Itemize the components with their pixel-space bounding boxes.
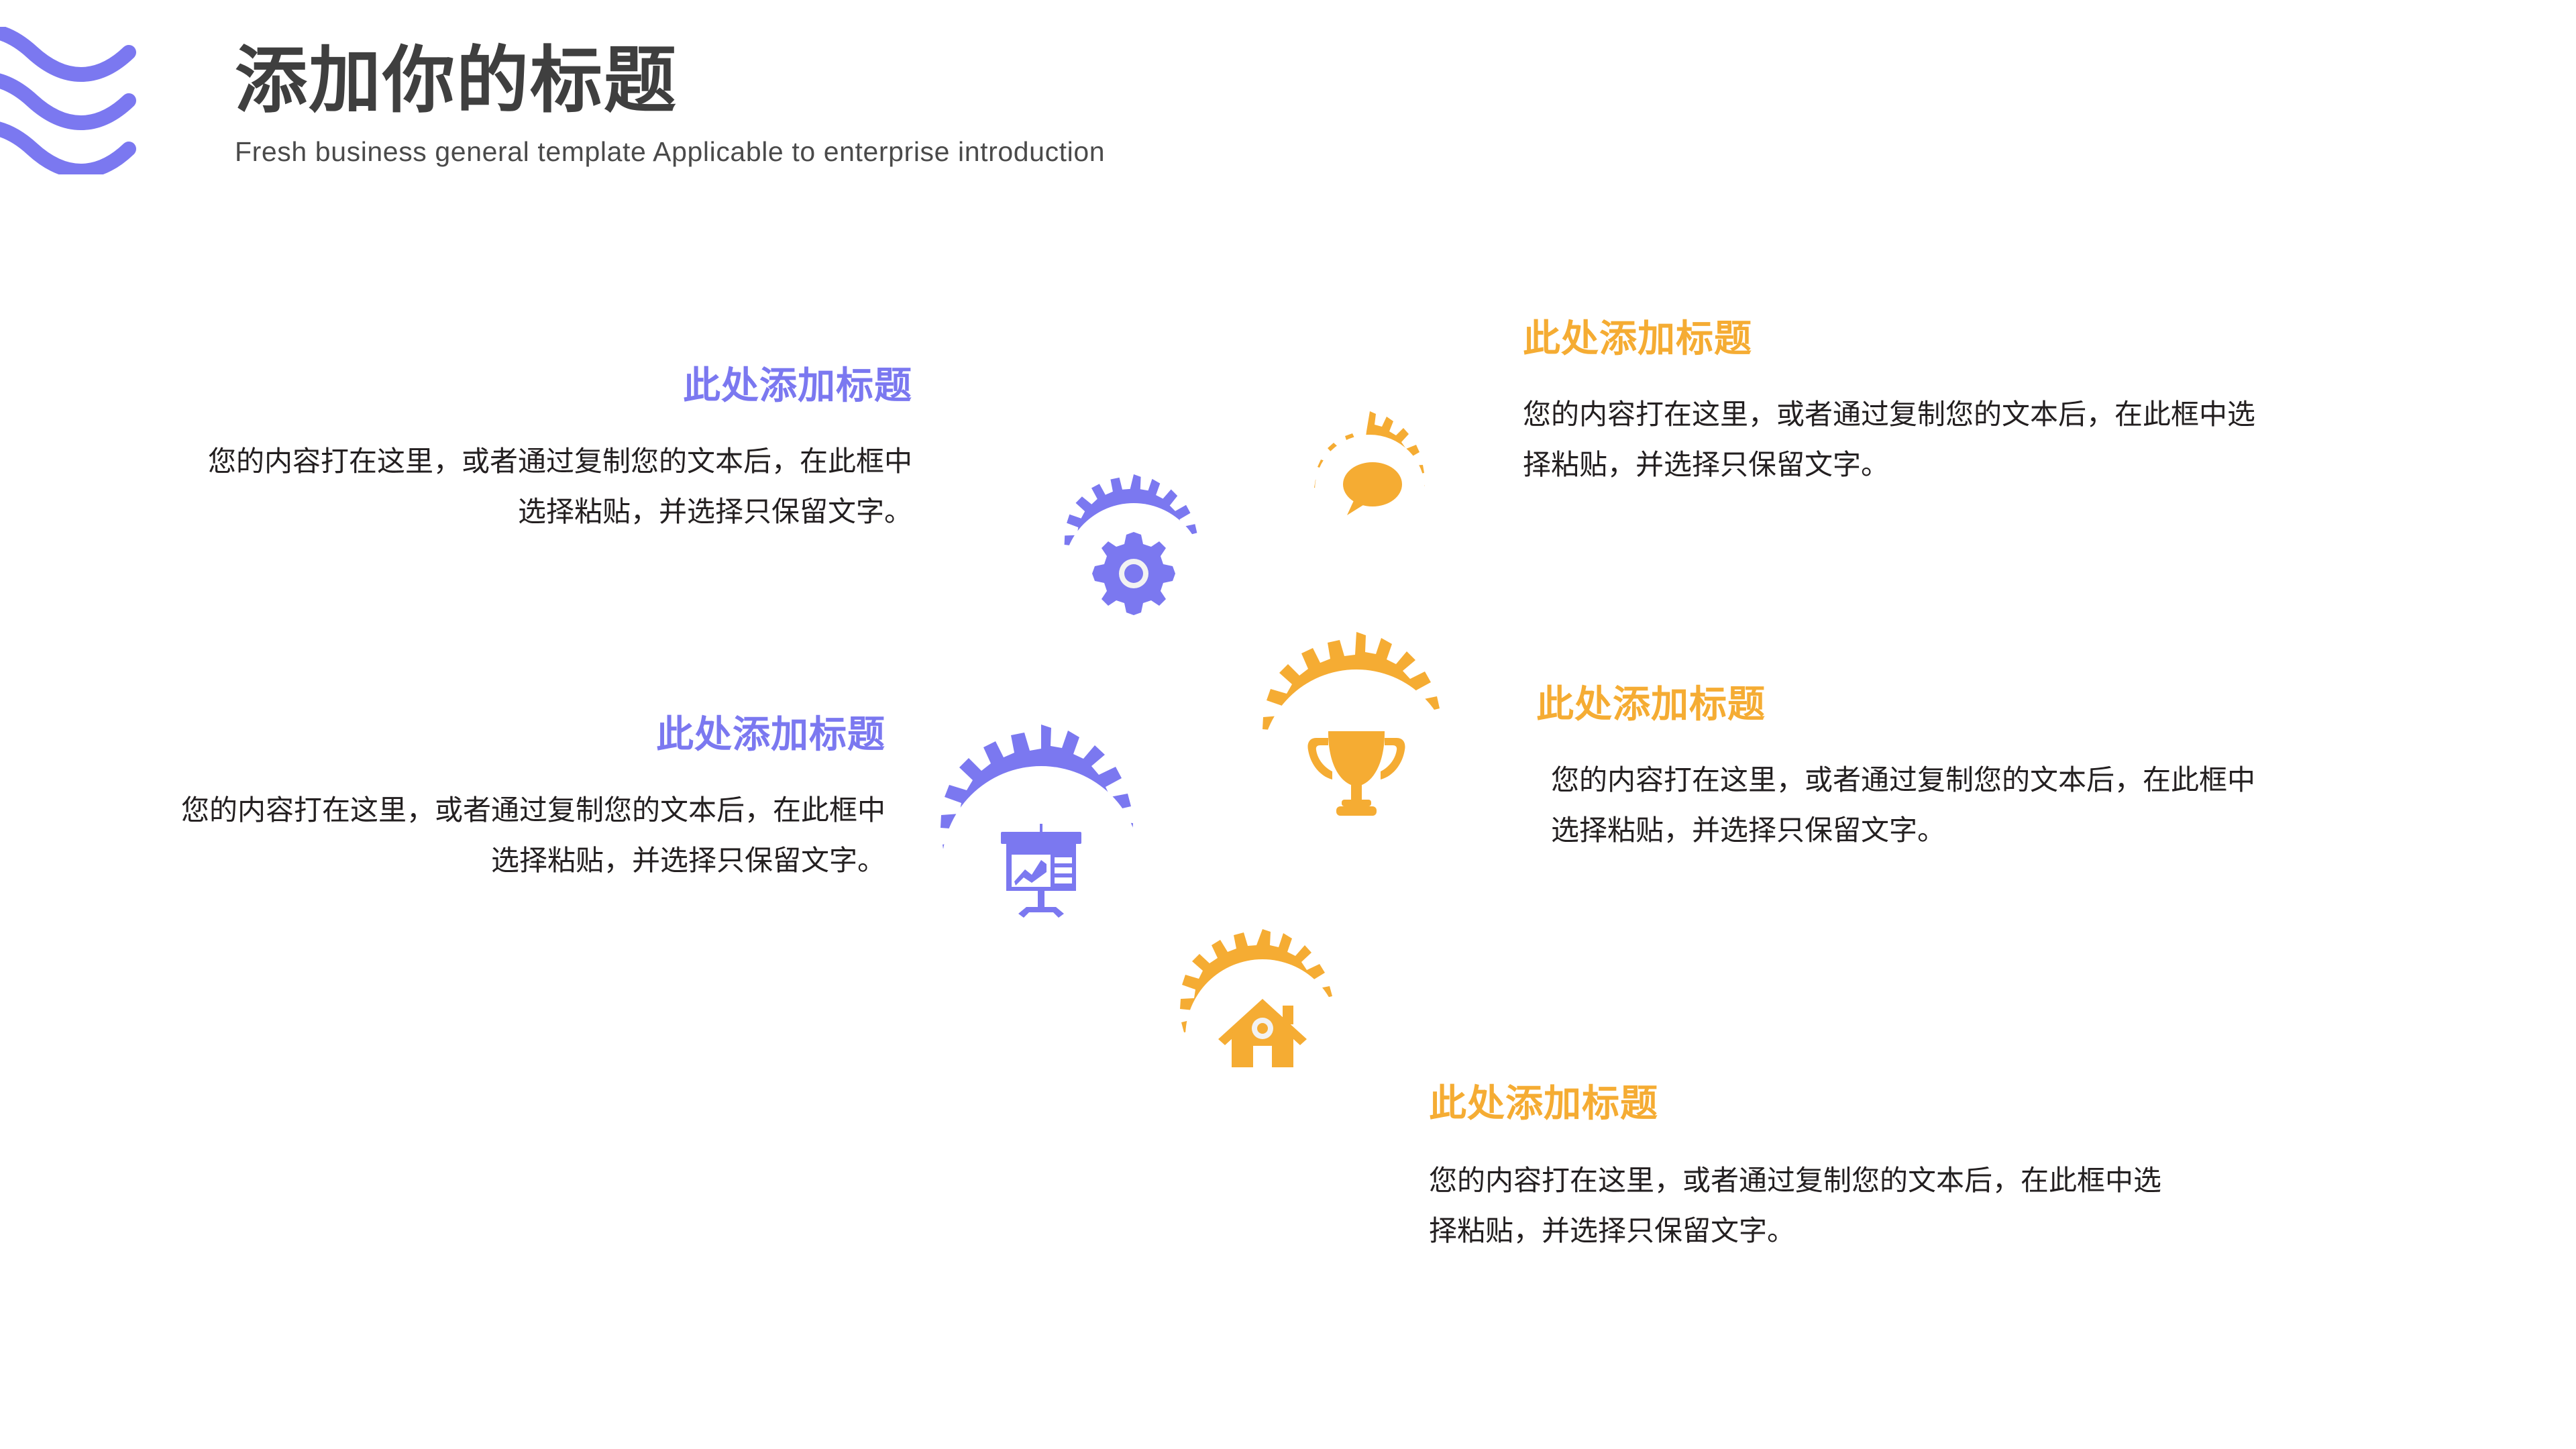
gear-cluster-graphic [825, 376, 1516, 1201]
text-block-top-left: 此处添加标题 您的内容打在这里，或者通过复制您的文本后，在此框中选择粘贴，并选择… [201, 356, 912, 537]
gear-settings[interactable] [1034, 474, 1233, 673]
block-heading: 此处添加标题 [201, 356, 912, 410]
block-body: 您的内容打在这里，或者通过复制您的文本后，在此框中选择粘贴，并选择只保留文字。 [201, 437, 912, 537]
text-block-bottom-right: 此处添加标题 您的内容打在这里，或者通过复制您的文本后，在此框中选择粘贴，并选择… [1429, 1073, 2167, 1256]
block-body: 您的内容打在这里，或者通过复制您的文本后，在此框中选择粘贴，并选择只保留文字。 [1536, 755, 2274, 856]
page-title: 添加你的标题 [235, 40, 1105, 121]
gear-chat[interactable] [1291, 411, 1448, 568]
block-body: 您的内容打在这里，或者通过复制您的文本后，在此框中选择粘贴，并选择只保留文字。 [1523, 390, 2261, 490]
block-heading: 此处添加标题 [1429, 1073, 2167, 1128]
block-heading: 此处添加标题 [1536, 674, 2274, 729]
text-block-mid-left: 此处添加标题 您的内容打在这里，或者通过复制您的文本后，在此框中选择粘贴，并选择… [161, 704, 885, 886]
text-block-mid-right: 此处添加标题 您的内容打在这里，或者通过复制您的文本后，在此框中选择粘贴，并选择… [1536, 674, 2274, 856]
block-body: 您的内容打在这里，或者通过复制您的文本后，在此框中选择粘贴，并选择只保留文字。 [161, 786, 885, 886]
gear-presentation[interactable] [900, 724, 1182, 1006]
wave-decoration-icon [0, 27, 181, 174]
gear-home[interactable] [1155, 929, 1370, 1144]
block-body: 您的内容打在这里，或者通过复制您的文本后，在此框中选择粘贴，并选择只保留文字。 [1429, 1156, 2167, 1256]
title-group: 添加你的标题 Fresh business general template A… [235, 40, 1105, 168]
block-heading: 此处添加标题 [1523, 309, 2261, 363]
block-heading: 此处添加标题 [161, 704, 885, 759]
slide-header: 添加你的标题 Fresh business general template A… [0, 0, 2576, 221]
page-subtitle: Fresh business general template Applicab… [235, 136, 1105, 168]
text-block-top-right: 此处添加标题 您的内容打在这里，或者通过复制您的文本后，在此框中选择粘贴，并选择… [1523, 309, 2261, 490]
gear-trophy[interactable] [1224, 632, 1489, 898]
